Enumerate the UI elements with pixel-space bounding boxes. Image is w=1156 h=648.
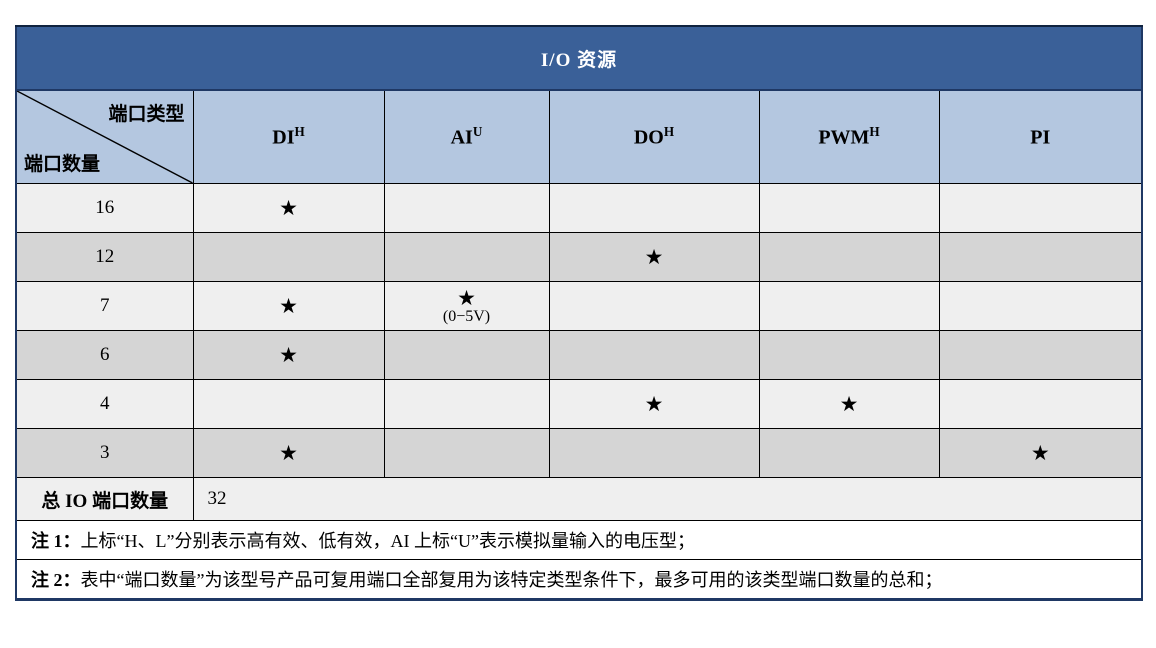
row-port-count: 3	[16, 429, 193, 478]
table-title-row: I/O 资源	[16, 26, 1142, 90]
star-icon: ★	[194, 344, 384, 366]
cell-pi	[939, 184, 1142, 233]
row-port-count: 7	[16, 282, 193, 331]
column-header-do: DOH	[549, 90, 759, 184]
total-label: 总 IO 端口数量	[16, 478, 193, 521]
table-row: 6 ★	[16, 331, 1142, 380]
cell-do	[549, 429, 759, 478]
row-port-count: 6	[16, 331, 193, 380]
cell-pwm	[759, 429, 939, 478]
column-header-di-sup: H	[294, 124, 304, 139]
table-row: 3 ★ ★	[16, 429, 1142, 478]
note-row: 注 1：上标“H、L”分别表示高有效、低有效，AI 上标“U”表示模拟量输入的电…	[16, 521, 1142, 560]
column-header-pi-name: PI	[1030, 127, 1050, 149]
total-blank-cell	[549, 478, 759, 521]
row-port-count: 4	[16, 380, 193, 429]
note-1-text: 上标“H、L”分别表示高有效、低有效，AI 上标“U”表示模拟量输入的电压型；	[81, 531, 695, 551]
cell-pi	[939, 380, 1142, 429]
io-resource-table-container: I/O 资源 端口类型 端口数量 DIH AIU DOH PWMH	[15, 25, 1141, 601]
cell-ai	[384, 233, 549, 282]
cell-pi	[939, 233, 1142, 282]
note-2-text: 表中“端口数量”为该型号产品可复用端口全部复用为该特定类型条件下，最多可用的该类…	[81, 570, 943, 590]
cell-di: ★	[193, 184, 384, 233]
note-1-key: 注 1：	[31, 531, 81, 551]
cell-pwm	[759, 233, 939, 282]
cell-di: ★	[193, 282, 384, 331]
total-row: 总 IO 端口数量 32	[16, 478, 1142, 521]
table-title: I/O 资源	[16, 26, 1142, 90]
star-icon: ★	[760, 393, 939, 415]
star-icon: ★	[194, 442, 384, 464]
note-1: 注 1：上标“H、L”分别表示高有效、低有效，AI 上标“U”表示模拟量输入的电…	[16, 521, 1142, 560]
column-header-pi: PI	[939, 90, 1142, 184]
cell-pwm	[759, 331, 939, 380]
io-resource-table: I/O 资源 端口类型 端口数量 DIH AIU DOH PWMH	[15, 25, 1143, 601]
table-row: 7 ★ ★ (0−5V)	[16, 282, 1142, 331]
cell-pwm: ★	[759, 380, 939, 429]
cell-pi	[939, 331, 1142, 380]
column-header-pwm-name: PWM	[818, 127, 869, 149]
column-header-ai: AIU	[384, 90, 549, 184]
cell-do	[549, 331, 759, 380]
star-icon: ★	[550, 393, 759, 415]
table-header-row: 端口类型 端口数量 DIH AIU DOH PWMH PI	[16, 90, 1142, 184]
note-2: 注 2：表中“端口数量”为该型号产品可复用端口全部复用为该特定类型条件下，最多可…	[16, 560, 1142, 600]
cell-di: ★	[193, 331, 384, 380]
cell-ai	[384, 429, 549, 478]
cell-ai	[384, 380, 549, 429]
star-icon: ★	[194, 197, 384, 219]
row-port-count: 12	[16, 233, 193, 282]
cell-ai	[384, 184, 549, 233]
star-icon: ★	[194, 295, 384, 317]
corner-label-port-count: 端口数量	[24, 149, 100, 176]
corner-header-cell: 端口类型 端口数量	[16, 90, 193, 184]
cell-do	[549, 184, 759, 233]
note-row: 注 2：表中“端口数量”为该型号产品可复用端口全部复用为该特定类型条件下，最多可…	[16, 560, 1142, 600]
cell-do: ★	[549, 233, 759, 282]
cell-ai: ★ (0−5V)	[384, 282, 549, 331]
column-header-pwm: PWMH	[759, 90, 939, 184]
column-header-ai-sup: U	[473, 124, 483, 139]
star-icon: ★	[457, 287, 476, 309]
column-header-do-name: DO	[634, 127, 664, 149]
total-blank-cell	[759, 478, 939, 521]
table-row: 12 ★	[16, 233, 1142, 282]
cell-do	[549, 282, 759, 331]
cell-pi: ★	[939, 429, 1142, 478]
cell-ai	[384, 331, 549, 380]
table-row: 16 ★	[16, 184, 1142, 233]
star-icon: ★	[550, 246, 759, 268]
cell-di	[193, 380, 384, 429]
column-header-pwm-sup: H	[869, 124, 879, 139]
column-header-do-sup: H	[664, 124, 674, 139]
cell-pi	[939, 282, 1142, 331]
cell-pwm	[759, 184, 939, 233]
note-2-key: 注 2：	[31, 570, 81, 590]
column-header-ai-name: AI	[451, 127, 473, 149]
cell-di	[193, 233, 384, 282]
table-row: 4 ★ ★	[16, 380, 1142, 429]
cell-di: ★	[193, 429, 384, 478]
corner-label-port-type: 端口类型	[108, 99, 184, 126]
total-value: 32	[193, 478, 384, 521]
cell-do: ★	[549, 380, 759, 429]
cell-ai-stack: ★ (0−5V)	[385, 287, 549, 326]
total-blank-cell	[939, 478, 1142, 521]
cell-ai-voltage-range: (0−5V)	[443, 309, 490, 326]
row-port-count: 16	[16, 184, 193, 233]
cell-pwm	[759, 282, 939, 331]
column-header-di: DIH	[193, 90, 384, 184]
column-header-di-name: DI	[272, 127, 294, 149]
star-icon: ★	[940, 442, 1142, 464]
total-blank-cell	[384, 478, 549, 521]
